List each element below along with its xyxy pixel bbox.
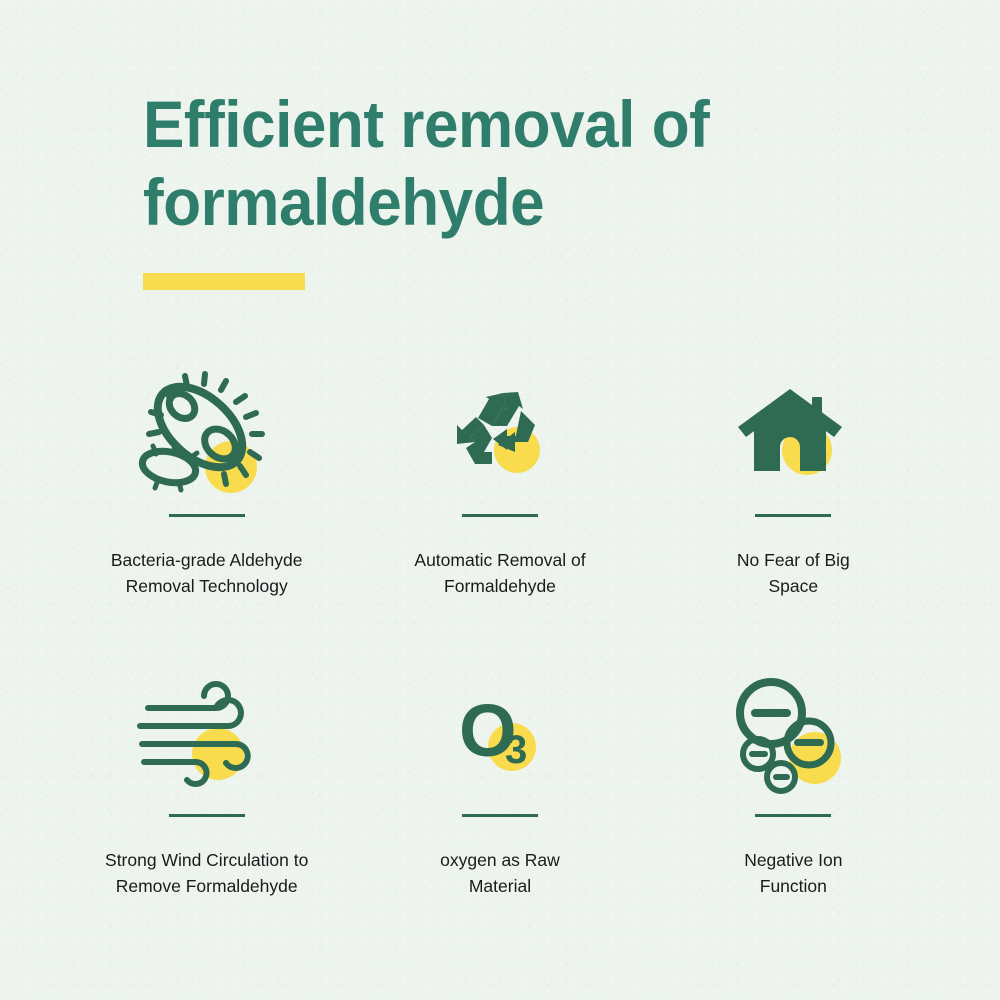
feature-divider	[462, 814, 538, 817]
feature-item-wind: Strong Wind Circulation to Remove Formal…	[60, 670, 353, 970]
title-accent-bar	[143, 273, 305, 290]
ozone-o3-icon: O 3	[420, 670, 580, 800]
feature-divider	[755, 514, 831, 517]
feature-caption: Bacteria-grade Aldehyde Removal Technolo…	[111, 547, 303, 600]
bacteria-icon	[127, 370, 287, 500]
feature-caption: oxygen as Raw Material	[440, 847, 560, 900]
feature-caption: Automatic Removal of Formaldehyde	[414, 547, 585, 600]
feature-item-negative-ion: Negative Ion Function	[647, 670, 940, 970]
recycle-icon	[420, 370, 580, 500]
feature-grid: Bacteria-grade Aldehyde Removal Technolo…	[60, 370, 940, 970]
wind-icon	[127, 670, 287, 800]
feature-caption: Strong Wind Circulation to Remove Formal…	[105, 847, 308, 900]
feature-item-bacteria: Bacteria-grade Aldehyde Removal Technolo…	[60, 370, 353, 670]
feature-item-recycle: Automatic Removal of Formaldehyde	[353, 370, 646, 670]
ozone-subscript-3: 3	[505, 728, 527, 772]
feature-caption: No Fear of Big Space	[737, 547, 850, 600]
feature-divider	[169, 814, 245, 817]
feature-divider	[462, 514, 538, 517]
header: Efficient removal of formaldehyde	[143, 86, 843, 242]
feature-item-house: No Fear of Big Space	[647, 370, 940, 670]
negative-ion-icon	[713, 670, 873, 800]
page-title: Efficient removal of formaldehyde	[143, 86, 801, 242]
infographic-page: Efficient removal of formaldehyde	[0, 0, 1000, 1000]
house-icon	[713, 370, 873, 500]
feature-item-ozone: O 3 oxygen as Raw Material	[353, 670, 646, 970]
feature-divider	[755, 814, 831, 817]
feature-divider	[169, 514, 245, 517]
feature-caption: Negative Ion Function	[744, 847, 842, 900]
